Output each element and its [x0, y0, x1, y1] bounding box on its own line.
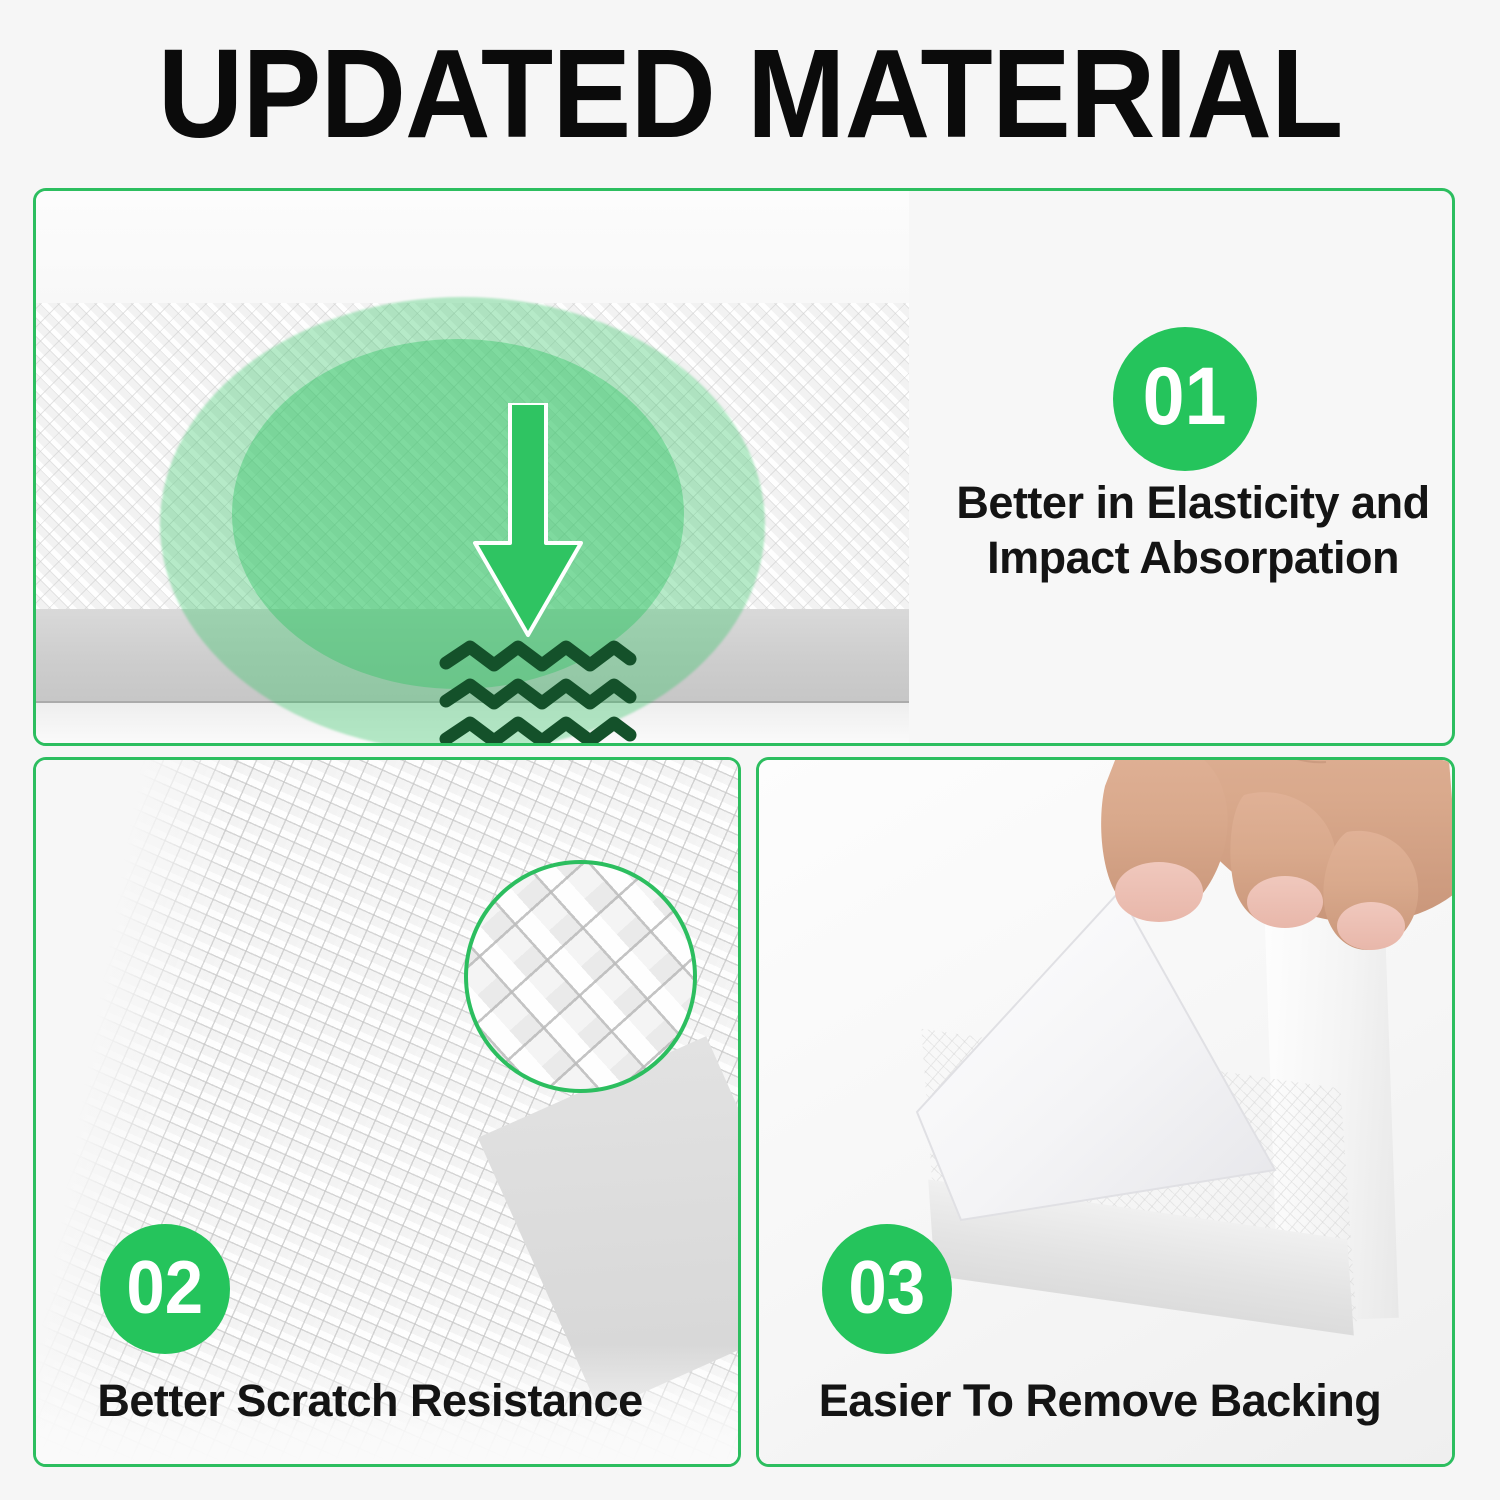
wave-lines-icon	[438, 639, 638, 743]
magnifier-circle-callout	[464, 860, 697, 1093]
page-title: UPDATED MATERIAL	[158, 31, 1343, 157]
badge-number: 01	[1143, 356, 1227, 438]
feature-caption-02: Better Scratch Resistance	[40, 1374, 700, 1429]
hand-icon	[1059, 760, 1452, 1010]
feature-badge-01: 01	[1113, 327, 1257, 471]
foam-impact-photo	[36, 191, 909, 743]
photo-background-top	[36, 191, 909, 309]
feature-caption-01: Better in Elasticity and Impact Absorpat…	[940, 476, 1446, 586]
page-header: UPDATED MATERIAL	[0, 24, 1500, 164]
impact-zone-inner-ellipse	[232, 339, 684, 689]
green-down-arrow-icon	[468, 403, 588, 638]
infographic-page: UPDATED MATERIAL	[0, 0, 1500, 1500]
badge-number: 02	[127, 1250, 204, 1325]
peel-backing-photo	[759, 760, 1452, 1464]
badge-number: 03	[849, 1250, 926, 1325]
feature-panel-03	[756, 757, 1455, 1467]
feature-panel-02	[33, 757, 741, 1467]
feature-caption-03: Easier To Remove Backing	[770, 1374, 1430, 1429]
foam-texture-photo	[36, 760, 738, 1464]
feature-panel-01	[33, 188, 1455, 746]
feature-badge-03: 03	[822, 1224, 952, 1354]
feature-badge-02: 02	[100, 1224, 230, 1354]
